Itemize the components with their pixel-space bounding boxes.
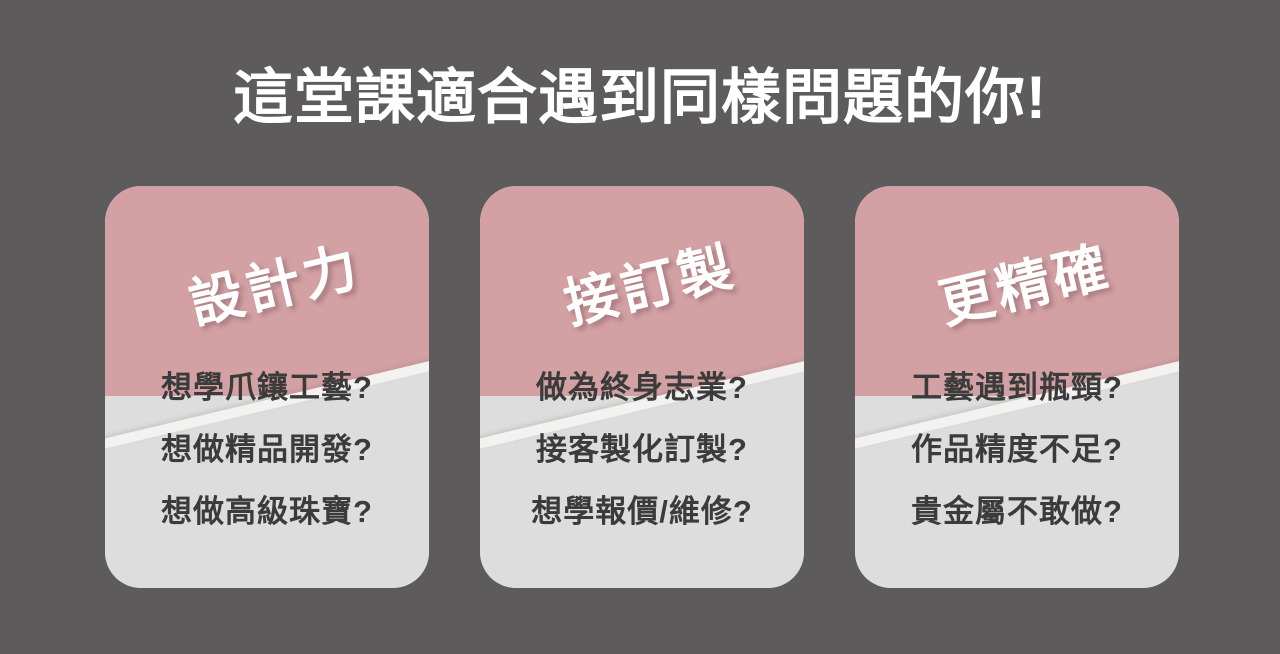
feature-card-1[interactable]: 設計力 想學爪鑲工藝? 想做精品開發? 想做高級珠寶? [105, 186, 429, 588]
card-line-list-2: 做為終身志業? 接客製化訂製? 想學報價/維修? [480, 372, 804, 527]
card-line: 做為終身志業? [536, 372, 748, 403]
page-title: 這堂課適合遇到同樣問題的你! [0, 63, 1280, 134]
card-line-list-3: 工藝遇到瓶頸? 作品精度不足? 貴金屬不敢做? [855, 372, 1179, 527]
card-group: 設計力 想學爪鑲工藝? 想做精品開發? 想做高級珠寶? 接訂製 做為終身志業? … [105, 186, 1179, 588]
card-line: 貴金屬不敢做? [911, 496, 1123, 527]
card-line: 想學報價/維修? [531, 496, 753, 527]
card-line: 想做高級珠寶? [161, 496, 373, 527]
card-line: 想學爪鑲工藝? [161, 372, 373, 403]
card-line: 工藝遇到瓶頸? [911, 372, 1123, 403]
card-line: 想做精品開發? [161, 434, 373, 465]
feature-card-2[interactable]: 接訂製 做為終身志業? 接客製化訂製? 想學報價/維修? [480, 186, 804, 588]
card-line-list-1: 想學爪鑲工藝? 想做精品開發? 想做高級珠寶? [105, 372, 429, 527]
card-line: 作品精度不足? [911, 434, 1123, 465]
slide-root: 這堂課適合遇到同樣問題的你! 設計力 想學爪鑲工藝? 想做精品開發? 想做高級珠… [0, 0, 1280, 654]
card-line: 接客製化訂製? [536, 434, 748, 465]
feature-card-3[interactable]: 更精確 工藝遇到瓶頸? 作品精度不足? 貴金屬不敢做? [855, 186, 1179, 588]
